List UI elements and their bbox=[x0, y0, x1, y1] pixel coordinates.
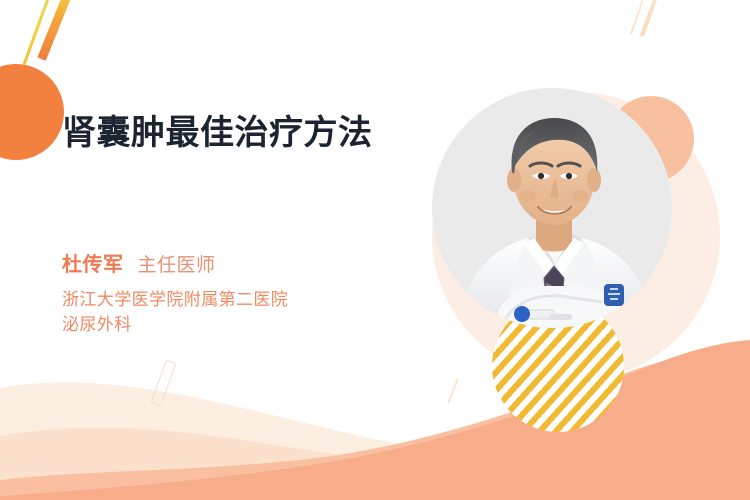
department-name: 泌尿外科 bbox=[62, 313, 288, 338]
doctor-affiliation: 浙江大学医学院附属第二医院 泌尿外科 bbox=[62, 288, 288, 337]
headline-block: 肾囊肿最佳治疗方法 bbox=[62, 112, 418, 156]
diagonal-streak-orange-icon bbox=[37, 0, 75, 61]
hospital-name: 浙江大学医学院附属第二医院 bbox=[62, 288, 288, 313]
doctor-rank: 主任医师 bbox=[138, 255, 216, 276]
bottom-wave-decoration bbox=[0, 310, 750, 500]
doctor-video-card: 肾囊肿最佳治疗方法 杜传军主任医师 浙江大学医学院附属第二医院 泌尿外科 bbox=[0, 0, 750, 500]
diagonal-streak-yellow-icon bbox=[22, 0, 56, 66]
page-title: 肾囊肿最佳治疗方法 bbox=[62, 112, 418, 156]
doctor-name: 杜传军 bbox=[62, 254, 124, 276]
diagonal-streak-cream-icon bbox=[640, 0, 664, 37]
doctor-portrait bbox=[432, 88, 672, 328]
orange-circle-decoration bbox=[0, 64, 64, 160]
doctor-byline: 杜传军主任医师 bbox=[62, 248, 216, 277]
diagonal-streak-cream-thin-icon bbox=[630, 0, 652, 35]
